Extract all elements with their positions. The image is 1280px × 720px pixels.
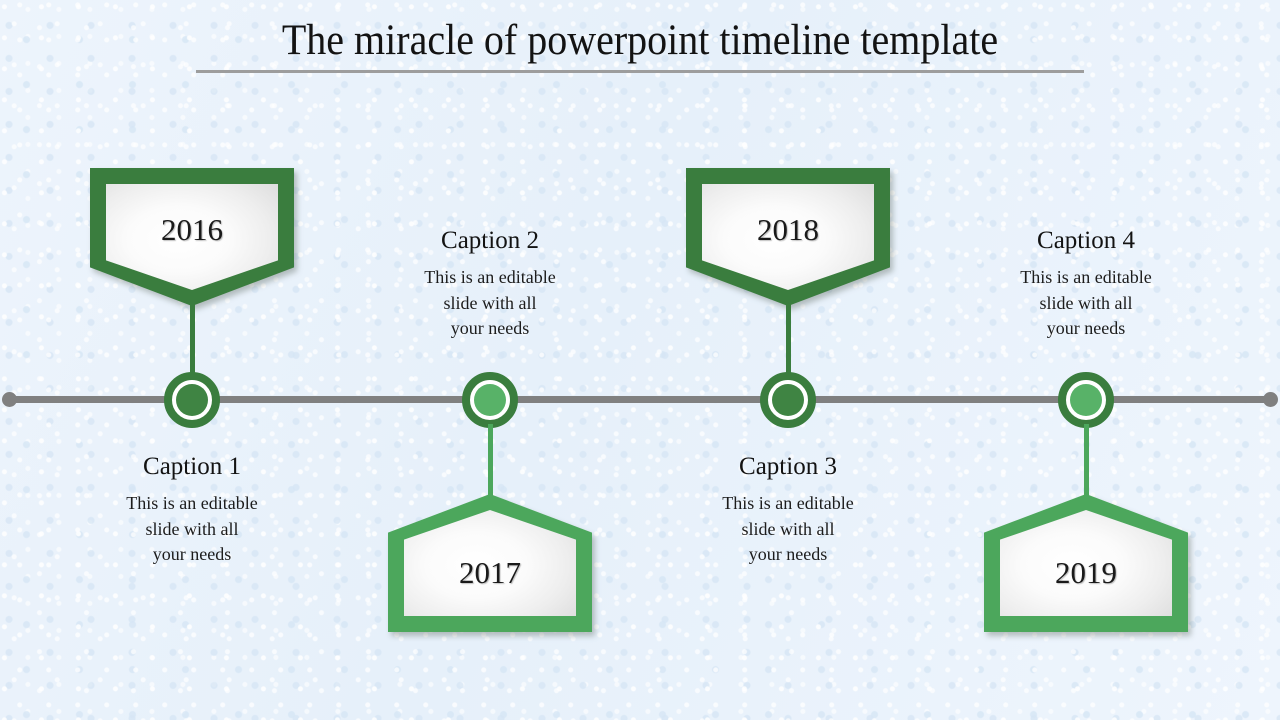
caption-body: This is an editable slide with all your … — [638, 491, 938, 568]
year-label: 2017 — [459, 557, 521, 588]
marker-inner-dot — [474, 384, 506, 416]
timeline-marker-2[interactable] — [462, 372, 518, 428]
timeline-marker-4[interactable] — [1058, 372, 1114, 428]
caption-block-1: Caption 1 This is an editable slide with… — [42, 452, 342, 568]
page-title: The miracle of powerpoint timeline templ… — [45, 16, 1235, 67]
connector-stem — [1084, 424, 1089, 496]
caption-block-4: Caption 4 This is an editable slide with… — [936, 226, 1236, 342]
title-block: The miracle of powerpoint timeline templ… — [0, 16, 1280, 67]
marker-inner-dot — [176, 384, 208, 416]
caption-body: This is an editable slide with all your … — [42, 491, 342, 568]
caption-block-2: Caption 2 This is an editable slide with… — [340, 226, 640, 342]
year-label: 2019 — [1055, 557, 1117, 588]
year-shield-2016[interactable]: 2016 — [90, 168, 294, 306]
connector-stem — [190, 303, 195, 375]
title-underline-rule — [196, 70, 1084, 73]
year-shield-2019[interactable]: 2019 — [984, 494, 1188, 632]
caption-title: Caption 3 — [638, 452, 938, 482]
caption-title: Caption 1 — [42, 452, 342, 482]
caption-title: Caption 2 — [340, 226, 640, 256]
caption-body: This is an editable slide with all your … — [340, 265, 640, 342]
timeline-marker-3[interactable] — [760, 372, 816, 428]
timeline-axis-cap-left — [2, 392, 17, 407]
marker-inner-dot — [1070, 384, 1102, 416]
caption-block-3: Caption 3 This is an editable slide with… — [638, 452, 938, 568]
connector-stem — [488, 424, 493, 496]
year-shield-2018[interactable]: 2018 — [686, 168, 890, 306]
marker-inner-dot — [772, 384, 804, 416]
year-shield-2017[interactable]: 2017 — [388, 494, 592, 632]
year-label: 2016 — [161, 214, 223, 245]
caption-title: Caption 4 — [936, 226, 1236, 256]
slide-canvas: The miracle of powerpoint timeline templ… — [0, 0, 1280, 720]
timeline-marker-1[interactable] — [164, 372, 220, 428]
connector-stem — [786, 303, 791, 375]
caption-body: This is an editable slide with all your … — [936, 265, 1236, 342]
year-label: 2018 — [757, 214, 819, 245]
timeline-axis-cap-right — [1263, 392, 1278, 407]
